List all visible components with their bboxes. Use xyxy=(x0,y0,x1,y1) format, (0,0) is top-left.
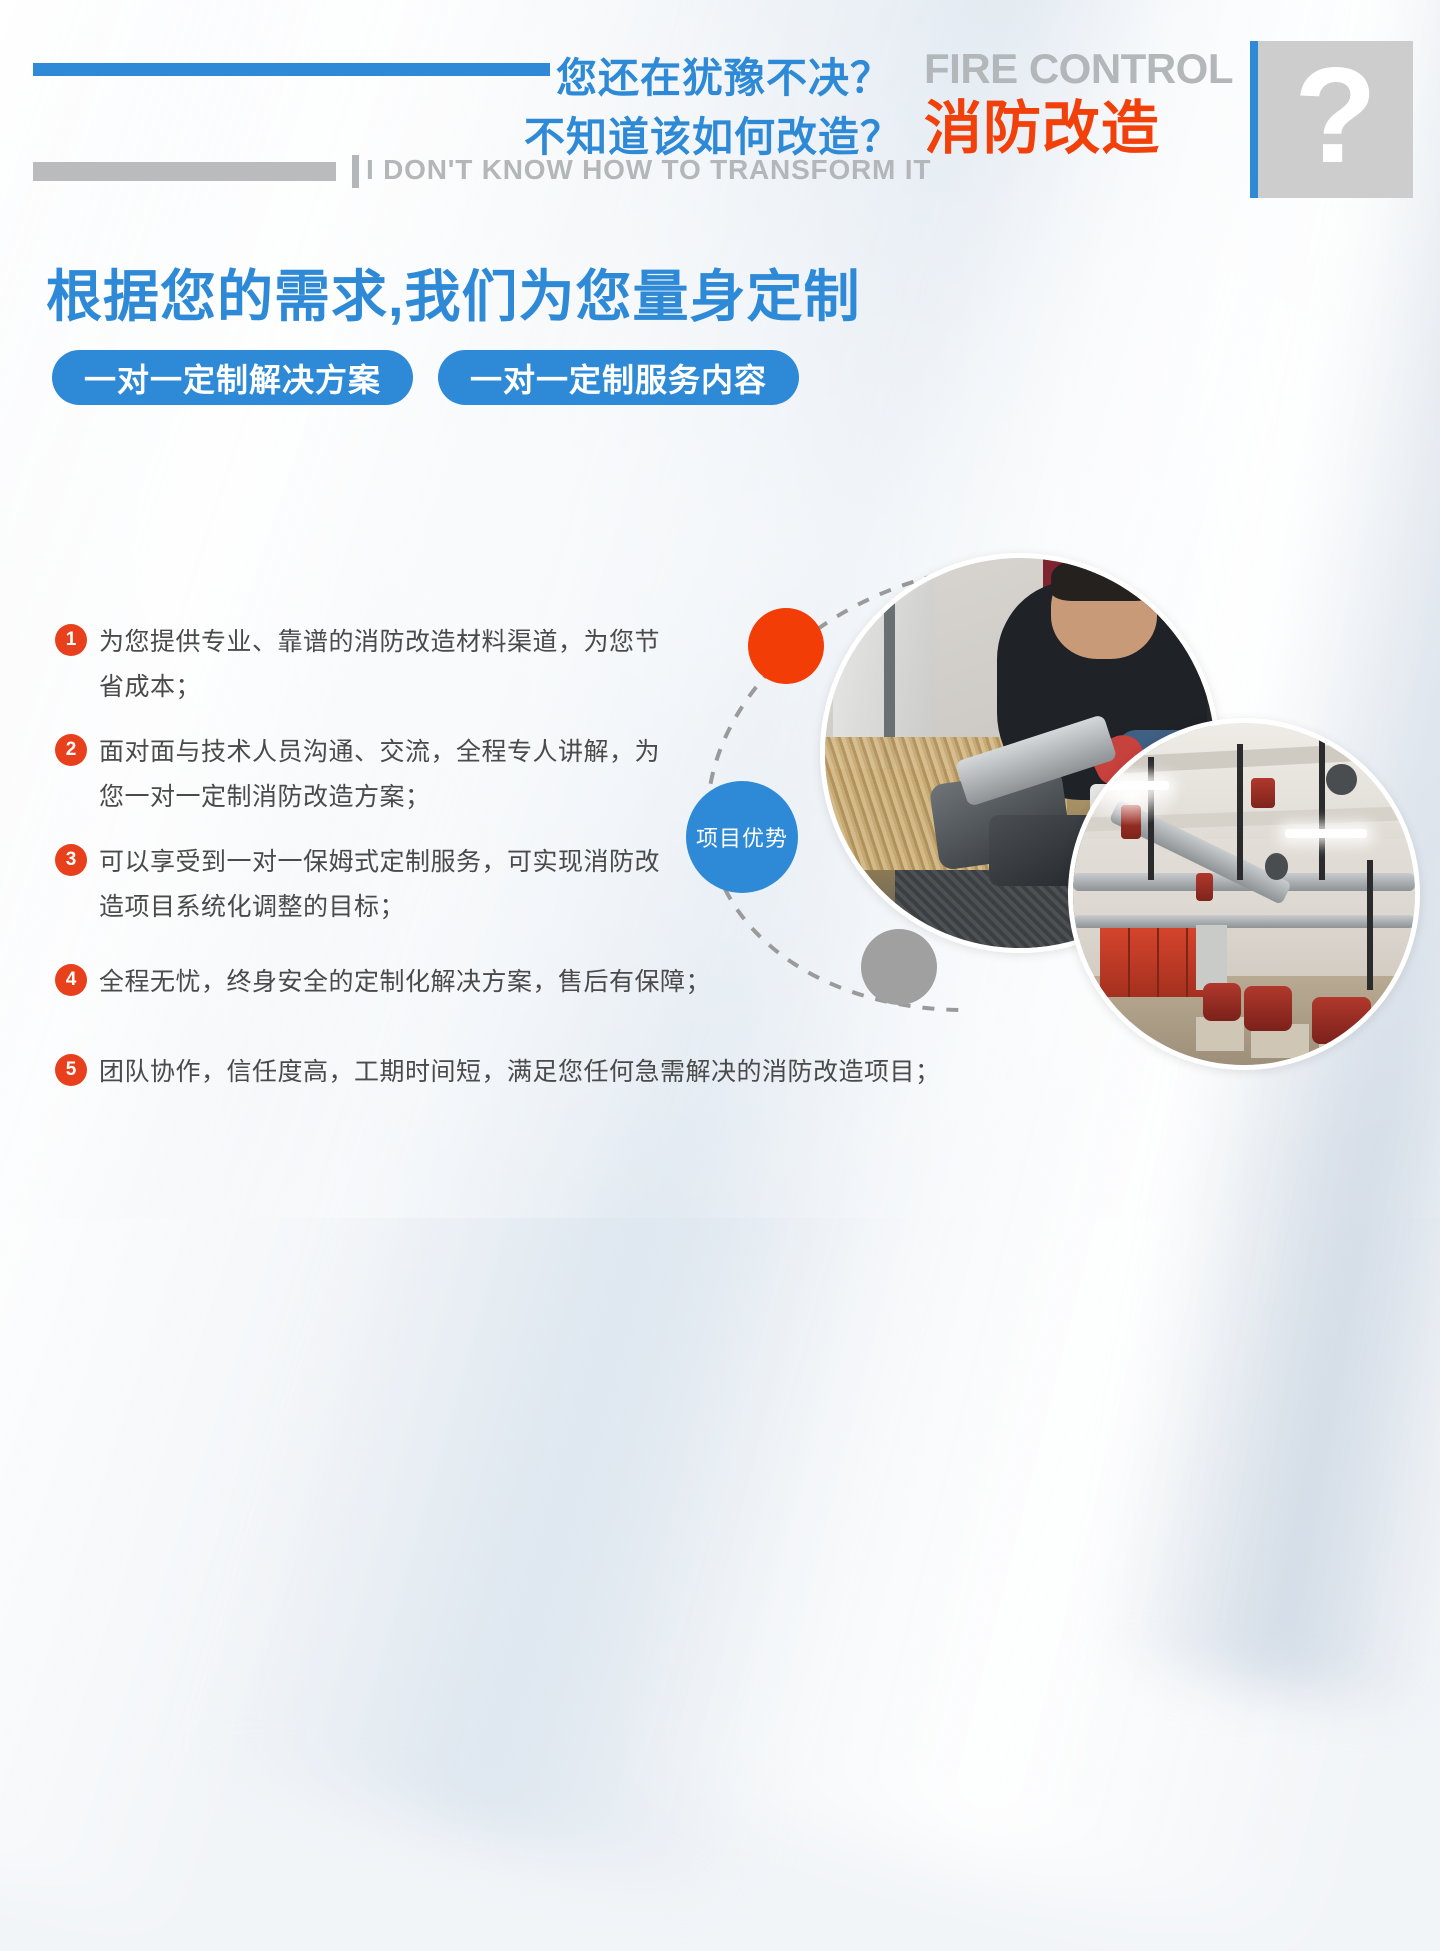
node-center-label: 项目优势 xyxy=(686,781,798,893)
pill-button-row: 一对一定制解决方案 一对一定制服务内容 xyxy=(52,350,799,405)
pill-button-custom-solution[interactable]: 一对一定制解决方案 xyxy=(52,350,413,405)
list-item-text: 面对面与技术人员沟通、交流，全程专人讲解，为您一对一定制消防改造方案； xyxy=(99,730,675,820)
header-question-line-1: 您还在犹豫不决？ xyxy=(556,44,892,104)
gray-rule-decoration xyxy=(33,162,336,181)
node-dot-orange xyxy=(748,608,824,684)
header-question-line-2: 不知道该如何改造？ xyxy=(524,103,902,163)
list-item-number-badge: 5 xyxy=(55,1054,87,1086)
list-item: 2 面对面与技术人员沟通、交流，全程专人讲解，为您一对一定制消防改造方案； xyxy=(55,730,675,820)
list-item: 3 可以享受到一对一保姆式定制服务，可实现消防改造项目系统化调整的目标； xyxy=(55,840,675,930)
list-item-number-badge: 3 xyxy=(55,844,87,876)
page-title: 根据您的需求,我们为您量身定制 xyxy=(46,252,861,333)
header-brand-chinese: 消防改造 xyxy=(924,100,1160,158)
list-item: 1 为您提供专业、靠谱的消防改造材料渠道，为您节省成本； xyxy=(55,620,675,710)
list-item-text: 全程无忧，终身安全的定制化解决方案，售后有保障； xyxy=(99,960,711,1005)
photo-pumproom xyxy=(1068,718,1420,1070)
question-mark-icon: ? xyxy=(1258,41,1413,198)
list-item-number-badge: 4 xyxy=(55,964,87,996)
list-item-text: 为您提供专业、靠谱的消防改造材料渠道，为您节省成本； xyxy=(99,620,675,710)
question-mark-accent-bar xyxy=(1250,41,1258,198)
pill-button-custom-service[interactable]: 一对一定制服务内容 xyxy=(438,350,799,405)
list-item-text: 可以享受到一对一保姆式定制服务，可实现消防改造项目系统化调整的目标； xyxy=(99,840,675,930)
blue-rule-decoration xyxy=(33,63,550,76)
list-item-number-badge: 1 xyxy=(55,624,87,656)
list-item: 5 团队协作，信任度高，工期时间短，满足您任何急需解决的消防改造项目； xyxy=(55,1050,1045,1095)
subtitle-tick-decoration xyxy=(352,155,359,188)
list-item-number-badge: 2 xyxy=(55,734,87,766)
question-mark-box: ? xyxy=(1258,41,1413,198)
header-brand-english: FIRE CONTROL xyxy=(924,45,1233,93)
list-item-text: 团队协作，信任度高，工期时间短，满足您任何急需解决的消防改造项目； xyxy=(99,1050,941,1095)
